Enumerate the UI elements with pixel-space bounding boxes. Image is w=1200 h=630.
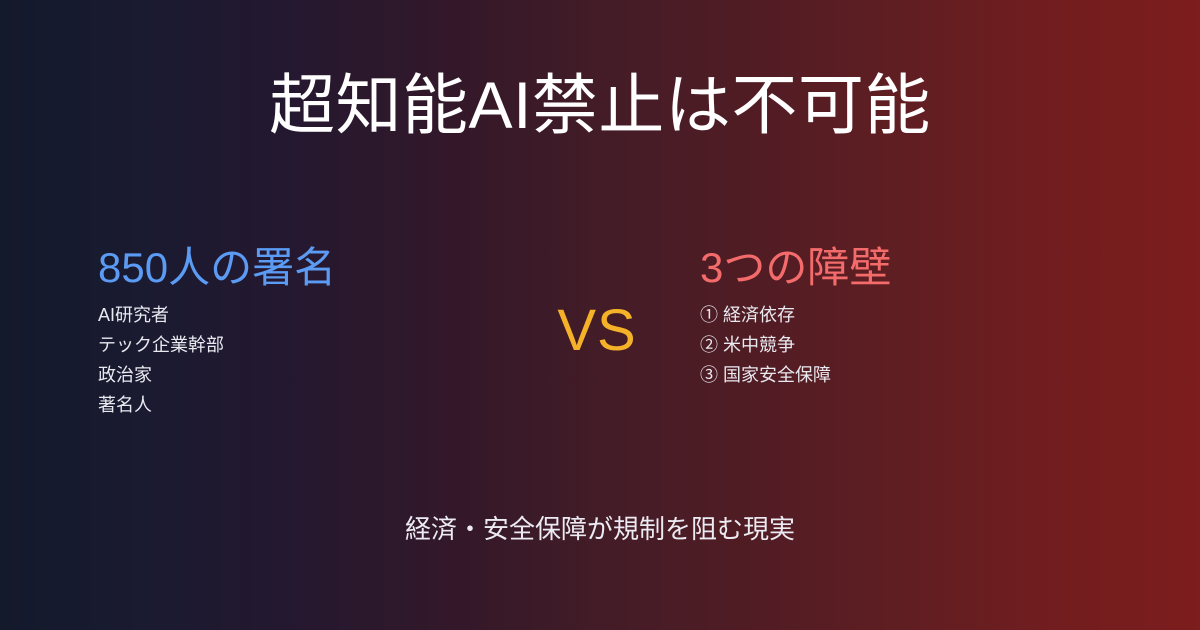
list-item: AI研究者 (98, 300, 488, 330)
list-item: ① 経済依存 (700, 300, 1100, 330)
list-item: テック企業幹部 (98, 330, 488, 360)
list-item: ② 米中競争 (700, 330, 1100, 360)
list-item: 著名人 (98, 390, 488, 420)
left-column: 850人の署名 AI研究者 テック企業幹部 政治家 著名人 (98, 246, 488, 420)
slide-canvas: 超知能AI禁止は不可能 850人の署名 AI研究者 テック企業幹部 政治家 著名… (0, 0, 1200, 630)
left-column-list: AI研究者 テック企業幹部 政治家 著名人 (98, 300, 488, 420)
list-item: ③ 国家安全保障 (700, 360, 1100, 390)
page-title: 超知能AI禁止は不可能 (0, 72, 1200, 138)
list-item: 政治家 (98, 360, 488, 390)
footer-caption: 経済・安全保障が規制を阻む現実 (0, 512, 1200, 546)
right-column-heading: 3つの障壁 (700, 246, 1100, 290)
versus-badge: VS (500, 300, 694, 362)
right-column: 3つの障壁 ① 経済依存 ② 米中競争 ③ 国家安全保障 (700, 246, 1100, 390)
left-column-heading: 850人の署名 (98, 246, 488, 290)
right-column-list: ① 経済依存 ② 米中競争 ③ 国家安全保障 (700, 300, 1100, 390)
